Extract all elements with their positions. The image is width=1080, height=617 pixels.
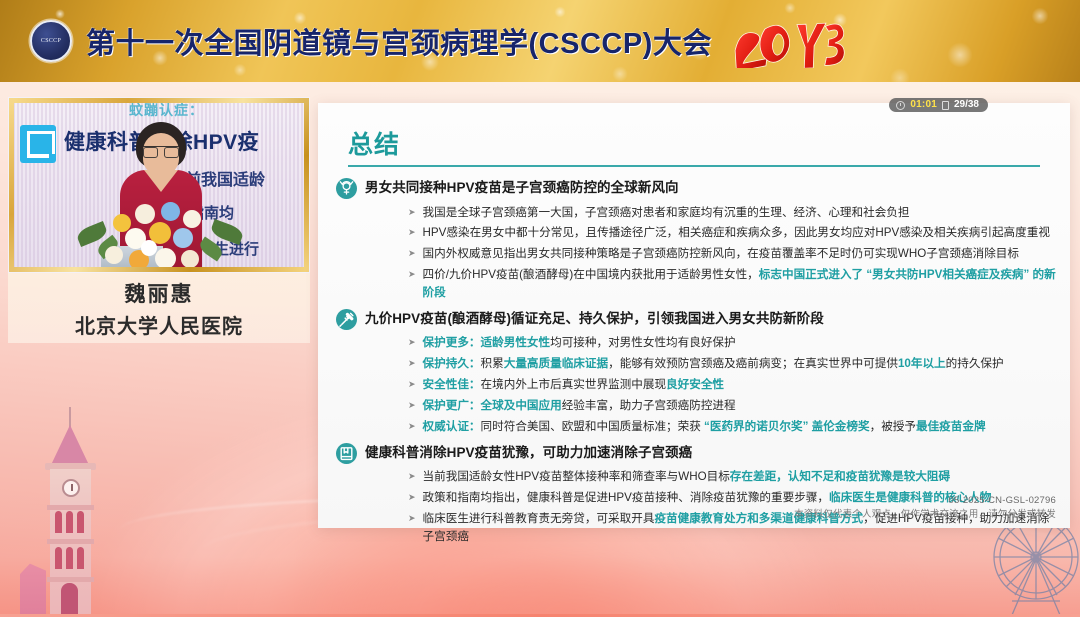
bullet-text: 权威认证：同时符合美国、欧盟和中国质量标准；荣获 “医药界的诺贝尔奖” 盖伦金榜… xyxy=(423,418,1056,436)
section-heading-text: 健康科普消除HPV疫苗犹豫，可助力加速消除子宫颈癌 xyxy=(365,442,692,463)
conference-banner: CSCCP 第十一次全国阴道镜与宫颈病理学(CSCCP)大会 xyxy=(0,0,1080,82)
bullet-arrow-icon: ➤ xyxy=(408,267,416,282)
slide-title: 总结 xyxy=(348,125,400,161)
speaker-info-panel: 魏丽惠 北京大学人民医院 xyxy=(8,273,310,343)
book-icon xyxy=(336,443,357,464)
speaker-glasses xyxy=(143,146,179,155)
speaker-name: 魏丽惠 xyxy=(125,278,194,308)
bullet-arrow-icon: ➤ xyxy=(408,511,416,526)
bullet-list: ➤我国是全球子宫颈癌第一大国，子宫颈癌对患者和家庭均有沉重的生理、经济、心理和社… xyxy=(336,202,1056,304)
bullet-text: 保护持久：积累大量高质量临床证据，能够有效预防宫颈癌及癌前病变；在真实世界中可提… xyxy=(423,355,1056,373)
csccp-logo-text: CSCCP xyxy=(41,38,61,45)
footer-material-code: 05-2025-CN-GSL-02796 xyxy=(794,494,1056,508)
csccp-logo-icon: CSCCP xyxy=(30,20,72,62)
bullet-item: ➤四价/九价HPV疫苗(酿酒酵母)在中国境内获批用于适龄男性女性，标志中国正式进… xyxy=(336,265,1056,304)
conference-slide-viewer: CSCCP 第十一次全国阴道镜与宫颈病理学(CSCCP)大会 xyxy=(0,0,1080,617)
slide-progress-badge: 01:01 29/38 xyxy=(889,98,988,112)
bullet-item: ➤国内外权威意见指出男女共同接种策略是子宫颈癌防控新风向，在疫苗覆盖率不足时仍可… xyxy=(336,244,1056,265)
gender-symbol-icon xyxy=(336,178,357,199)
bullet-arrow-icon: ➤ xyxy=(408,419,416,434)
bullet-item: ➤我国是全球子宫颈癌第一大国，子宫颈癌对患者和家庭均有沉重的生理、经济、心理和社… xyxy=(336,202,1056,223)
bullet-arrow-icon: ➤ xyxy=(408,398,416,413)
footer-disclaimer: 本资料仅代表个人观点，仅作学术交流之用，请勿分发或转发 xyxy=(794,508,1056,522)
bullet-arrow-icon: ➤ xyxy=(408,490,416,505)
bullet-item: ➤当前我国适龄女性HPV疫苗整体接种率和筛查率与WHO目标存在差距，认知不足和疫… xyxy=(336,467,1056,488)
syringe-icon xyxy=(336,309,357,330)
bullet-arrow-icon: ➤ xyxy=(408,356,416,371)
clock-tower-illustration xyxy=(42,407,98,617)
bullet-arrow-icon: ➤ xyxy=(408,205,416,220)
page-icon xyxy=(942,101,949,110)
bullet-arrow-icon: ➤ xyxy=(408,469,416,484)
section-header: 九价HPV疫苗(酿酒酵母)循证充足、持久保护，引领我国进入男女共防新阶段 xyxy=(336,308,1056,330)
bullet-list: ➤保护更多：适龄男性女性均可接种，对男性女性均有良好保护➤保护持久：积累大量高质… xyxy=(336,333,1056,438)
tower-clock-face xyxy=(62,479,80,497)
slide-section: 男女共同接种HPV疫苗是子宫颈癌防控的全球新风向➤我国是全球子宫颈癌第一大国，子… xyxy=(336,177,1056,304)
bullet-arrow-icon: ➤ xyxy=(408,377,416,392)
section-header: 男女共同接种HPV疫苗是子宫颈癌防控的全球新风向 xyxy=(336,177,1056,199)
bullet-text: 安全性佳：在境内外上市后真实世界监测中展现良好安全性 xyxy=(423,376,1056,394)
bullet-item: ➤安全性佳：在境内外上市后真实世界监测中展现良好安全性 xyxy=(336,375,1056,396)
conference-year-graphic xyxy=(728,14,846,68)
flower-arrangement xyxy=(69,192,254,272)
slide-section: 九价HPV疫苗(酿酒酵母)循证充足、持久保护，引领我国进入男女共防新阶段➤保护更… xyxy=(336,308,1056,438)
speaker-video-player[interactable]: 蚊蹦认症： 健康科普消除HPV疫 当前我国适龄 指南均 生进行 xyxy=(8,97,310,273)
bullet-text: 当前我国适龄女性HPV疫苗整体接种率和筛查率与WHO目标存在差距，认知不足和疫苗… xyxy=(423,468,1056,486)
bullet-text: 我国是全球子宫颈癌第一大国，子宫颈癌对患者和家庭均有沉重的生理、经济、心理和社会… xyxy=(423,204,1056,222)
section-heading-text: 男女共同接种HPV疫苗是子宫颈癌防控的全球新风向 xyxy=(365,177,679,198)
elapsed-time: 01:01 xyxy=(910,100,937,110)
bullet-arrow-icon: ➤ xyxy=(408,246,416,261)
page-counter: 29/38 xyxy=(954,100,979,110)
bullet-item: ➤保护更广：全球及中国应用经验丰富，助力子宫颈癌防控进程 xyxy=(336,396,1056,417)
slide-footer: 05-2025-CN-GSL-02796 本资料仅代表个人观点，仅作学术交流之用… xyxy=(794,494,1056,523)
bullet-text: 国内外权威意见指出男女共同接种策略是子宫颈癌防控新风向，在疫苗覆盖率不足时仍可实… xyxy=(423,245,1056,263)
bullet-item: ➤权威认证：同时符合美国、欧盟和中国质量标准；荣获 “医药界的诺贝尔奖” 盖伦金… xyxy=(336,417,1056,438)
section-header: 健康科普消除HPV疫苗犹豫，可助力加速消除子宫颈癌 xyxy=(336,442,1056,464)
bullet-text: HPV感染在男女中都十分常见，且传播途径广泛，相关癌症和疾病众多，因此男女均应对… xyxy=(423,224,1056,242)
bullet-item: ➤保护更多：适龄男性女性均可接种，对男性女性均有良好保护 xyxy=(336,333,1056,354)
bullet-text: 保护更广：全球及中国应用经验丰富，助力子宫颈癌防控进程 xyxy=(423,397,1056,415)
stage-backdrop-text-top: 蚊蹦认症： xyxy=(129,100,204,120)
bullet-text: 四价/九价HPV疫苗(酿酒酵母)在中国境内获批用于适龄男性女性，标志中国正式进入… xyxy=(423,266,1056,302)
section-heading-text: 九价HPV疫苗(酿酒酵母)循证充足、持久保护，引领我国进入男女共防新阶段 xyxy=(365,308,824,329)
bullet-arrow-icon: ➤ xyxy=(408,225,416,240)
slide-canvas: 01:01 29/38 总结 男女共同接种HPV疫苗是子宫颈癌防控的全球新风向➤… xyxy=(318,103,1070,528)
clock-icon xyxy=(896,101,905,110)
slide-sections: 男女共同接种HPV疫苗是子宫颈癌防控的全球新风向➤我国是全球子宫颈癌第一大国，子… xyxy=(336,173,1056,548)
bullet-text: 保护更多：适龄男性女性均可接种，对男性女性均有良好保护 xyxy=(423,334,1056,352)
conference-title: 第十一次全国阴道镜与宫颈病理学(CSCCP)大会 xyxy=(86,20,712,62)
slide-title-divider xyxy=(348,165,1040,167)
speaker-organization: 北京大学人民医院 xyxy=(75,310,243,339)
bullet-item: ➤保护持久：积累大量高质量临床证据，能够有效预防宫颈癌及癌前病变；在真实世界中可… xyxy=(336,354,1056,375)
bullet-arrow-icon: ➤ xyxy=(408,335,416,350)
stage-banner-logo-icon xyxy=(20,125,56,163)
bullet-item: ➤HPV感染在男女中都十分常见，且传播途径广泛，相关癌症和疾病众多，因此男女均应… xyxy=(336,223,1056,244)
